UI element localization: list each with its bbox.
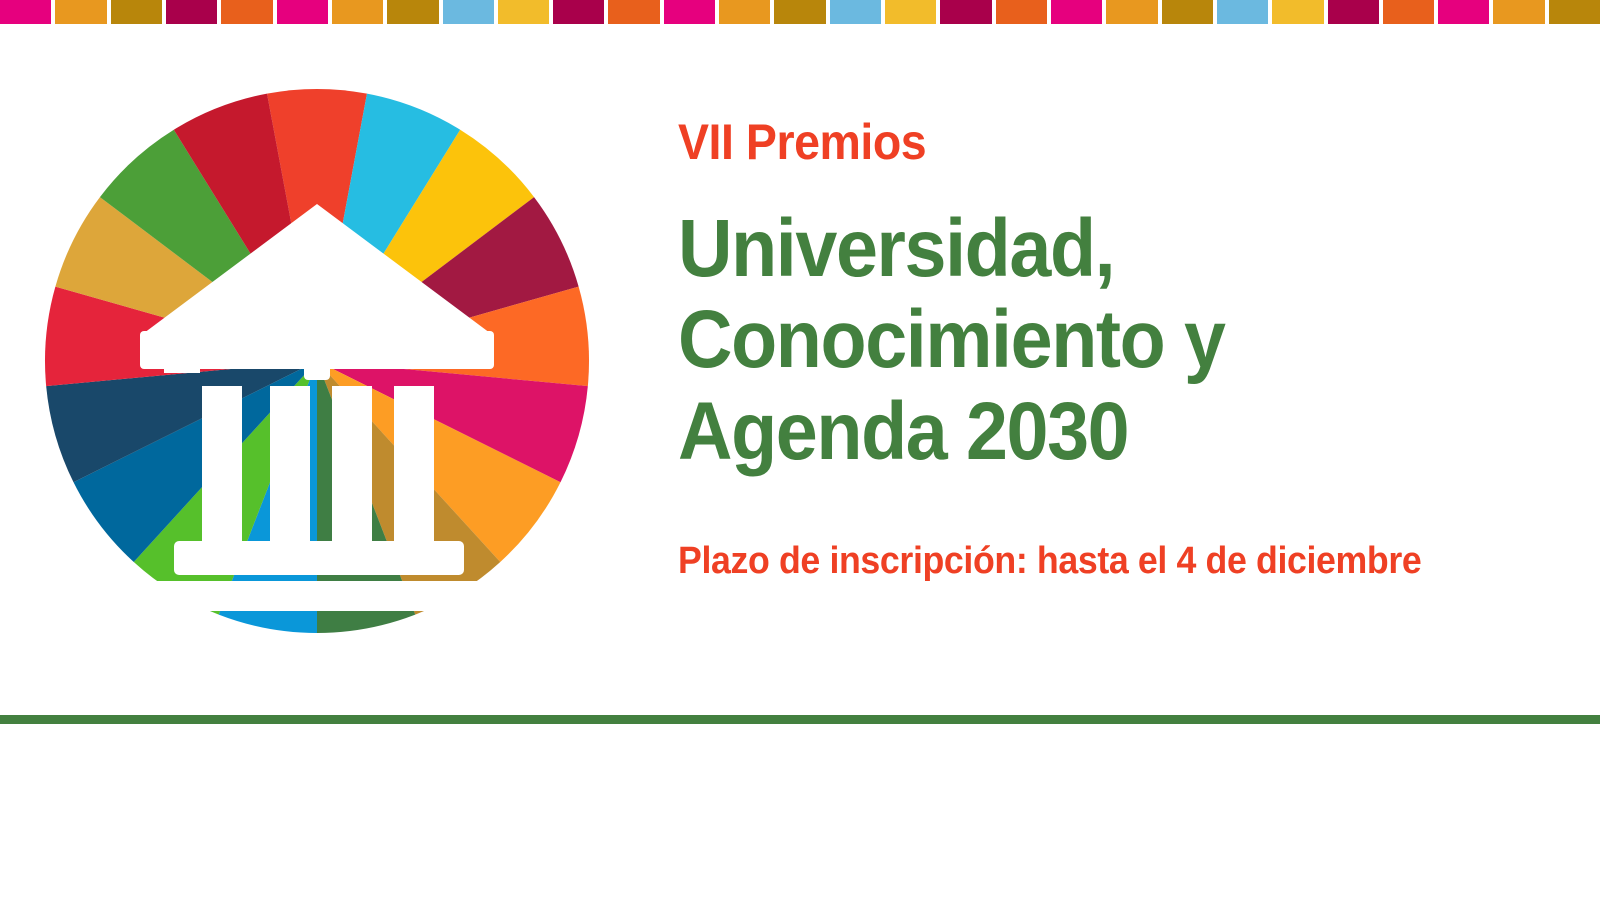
color-swatch-25 — [1383, 0, 1434, 24]
color-swatch-8 — [443, 0, 494, 24]
color-swatch-4 — [221, 0, 272, 24]
color-swatch-21 — [1162, 0, 1213, 24]
headline-block: VII Premios Universidad, Conocimiento y … — [678, 116, 1558, 583]
color-swatch-27 — [1493, 0, 1544, 24]
color-swatch-24 — [1328, 0, 1379, 24]
color-swatch-9 — [498, 0, 549, 24]
color-swatch-7 — [387, 0, 438, 24]
color-swatch-14 — [774, 0, 825, 24]
color-swatch-28 — [1549, 0, 1600, 24]
color-swatch-22 — [1217, 0, 1268, 24]
decorative-color-strip — [0, 0, 1600, 24]
color-swatch-18 — [996, 0, 1047, 24]
color-swatch-23 — [1272, 0, 1323, 24]
color-swatch-11 — [608, 0, 659, 24]
color-swatch-6 — [332, 0, 383, 24]
green-divider — [0, 715, 1600, 724]
color-swatch-2 — [111, 0, 162, 24]
color-swatch-16 — [885, 0, 936, 24]
eyebrow-text: VII Premios — [678, 116, 1496, 169]
color-swatch-0 — [0, 0, 51, 24]
poster-root: VII Premios Universidad, Conocimiento y … — [0, 0, 1600, 900]
sdg-wheel-university-emblem — [42, 86, 592, 636]
color-swatch-19 — [1051, 0, 1102, 24]
color-swatch-3 — [166, 0, 217, 24]
color-swatch-17 — [940, 0, 991, 24]
title-line-2: Conocimiento y — [678, 294, 1488, 386]
color-swatch-10 — [553, 0, 604, 24]
color-swatch-1 — [55, 0, 106, 24]
color-swatch-20 — [1106, 0, 1157, 24]
color-swatch-12 — [664, 0, 715, 24]
color-swatch-26 — [1438, 0, 1489, 24]
title-line-1: Universidad, — [678, 203, 1488, 295]
color-swatch-15 — [830, 0, 881, 24]
color-swatch-13 — [719, 0, 770, 24]
page-title: Universidad, Conocimiento y Agenda 2030 — [678, 203, 1488, 478]
deadline-text: Plazo de inscripción: hasta el 4 de dici… — [678, 540, 1505, 583]
title-line-3: Agenda 2030 — [678, 386, 1488, 478]
color-swatch-5 — [277, 0, 328, 24]
partner-logo-strip: Fundación Carolina 25 años crue Universi… — [0, 724, 1600, 900]
